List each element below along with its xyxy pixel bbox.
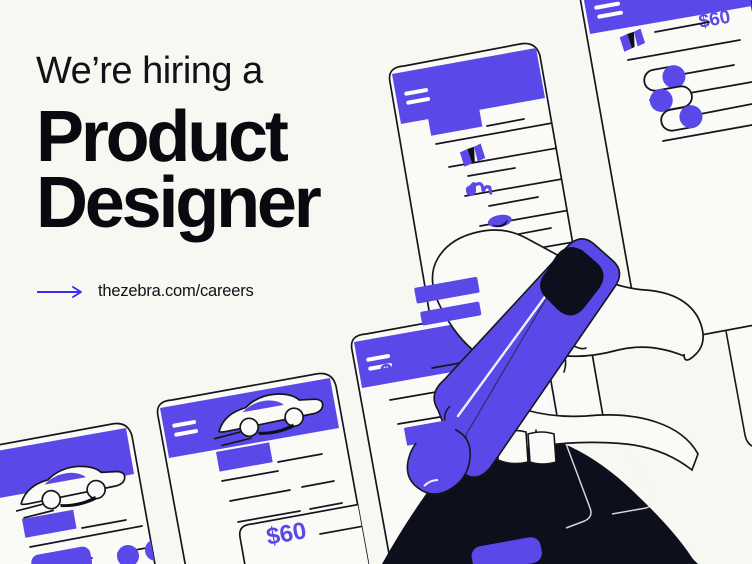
page-title: Product Designer xyxy=(36,104,436,236)
careers-url-row[interactable]: thezebra.com/careers xyxy=(36,282,436,301)
kicker-text: We’re hiring a xyxy=(36,52,436,90)
arrow-right-icon xyxy=(36,285,84,299)
hiring-copy-block: We’re hiring a Product Designer thezebra… xyxy=(36,52,436,301)
illustration-canvas: $60 xyxy=(0,0,752,564)
role-line-2: Designer xyxy=(36,170,436,236)
careers-url[interactable]: thezebra.com/careers xyxy=(98,282,254,301)
